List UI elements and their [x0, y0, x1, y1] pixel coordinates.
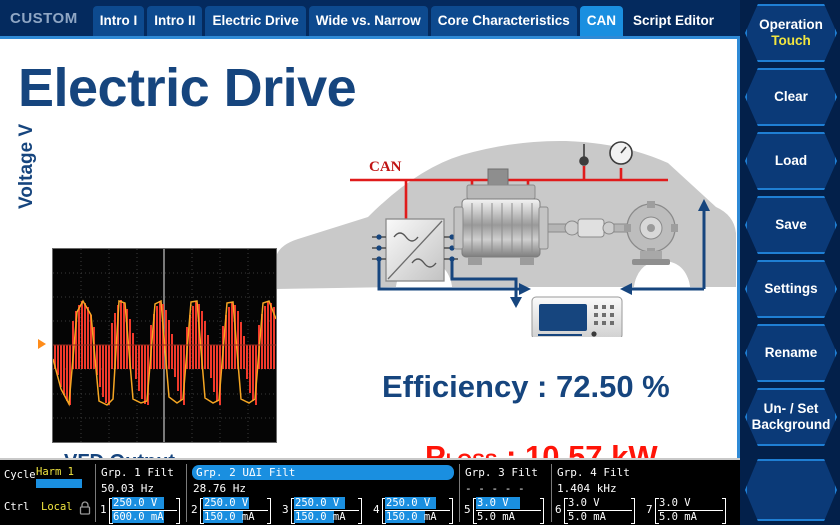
- softkey-background-label-1: Un- / Set: [764, 401, 819, 417]
- softkey-save-label: Save: [775, 217, 807, 233]
- channel-3-number: 3: [282, 503, 289, 516]
- channel-1-current: 600.0 mA: [113, 511, 164, 523]
- cycle-label: Cycle: [4, 469, 36, 481]
- ctrl-value[interactable]: Local: [41, 501, 73, 513]
- power-loss-readout: PLOSS : 10.57 kW: [425, 439, 658, 458]
- channel-4-tail: [449, 498, 453, 524]
- can-label: CAN: [369, 159, 402, 175]
- softkey-load[interactable]: Load: [745, 132, 837, 190]
- softkey-background-label-2: Background: [752, 417, 831, 433]
- tab-bar: CUSTOM Intro I Intro II Electric Drive W…: [0, 0, 740, 36]
- channel-1-voltage: 250.0 V: [113, 497, 157, 509]
- power-analyzer: [532, 297, 622, 337]
- channel-5-tail: [540, 498, 544, 524]
- efficiency-readout: Efficiency : 72.50 %: [382, 369, 670, 405]
- content-area: Electric Drive: [0, 36, 740, 458]
- channel-6-voltage: 3.0 V: [568, 497, 600, 509]
- softkey-operation[interactable]: Operation Touch: [745, 4, 837, 62]
- channel-2-number: 2: [191, 503, 198, 516]
- channel-5-number: 5: [464, 503, 471, 516]
- status-separator-4: [551, 464, 552, 522]
- status-separator-3: [459, 464, 460, 522]
- scope-y-axis-label: Voltage V: [16, 124, 38, 209]
- channel-6-tail: [631, 498, 635, 524]
- softkey-operation-value: Touch: [771, 33, 811, 49]
- softkey-save[interactable]: Save: [745, 196, 837, 254]
- channel-7-number: 7: [646, 503, 653, 516]
- tab-core-characteristics[interactable]: Core Characteristics: [431, 6, 577, 36]
- group-1-title[interactable]: Grp. 1 Filt: [101, 466, 174, 479]
- channel-4-number: 4: [373, 503, 380, 516]
- channel-1-number: 1: [100, 503, 107, 516]
- channel-3-tail: [358, 498, 362, 524]
- softkey-background[interactable]: Un- / Set Background: [745, 388, 837, 446]
- channel-4[interactable]: 4 250.0 V 150.0 mA: [373, 497, 453, 525]
- softkey-settings[interactable]: Settings: [745, 260, 837, 318]
- softkey-empty[interactable]: [745, 459, 837, 521]
- softkey-rename-label: Rename: [765, 345, 818, 361]
- channel-7-current: 5.0 mA: [659, 511, 697, 523]
- group-2-frequency: 28.76 Hz: [193, 482, 246, 495]
- trigger-marker-icon: [38, 339, 46, 349]
- group-2-title[interactable]: Grp. 2 UΔI Filt: [192, 465, 454, 480]
- group-4-frequency: 1.404 kHz: [557, 482, 617, 495]
- electric-drive-diagram: CAN: [276, 111, 738, 337]
- channel-6-current: 5.0 mA: [568, 511, 606, 523]
- softkey-clear[interactable]: Clear: [745, 68, 837, 126]
- ctrl-label: Ctrl: [4, 501, 29, 513]
- channel-3[interactable]: 3 250.0 V 150.0 mA: [282, 497, 362, 525]
- softkey-settings-label: Settings: [764, 281, 817, 297]
- channel-6[interactable]: 6 3.0 V 5.0 mA: [555, 497, 635, 525]
- group-3-title[interactable]: Grp. 3 Filt: [465, 466, 538, 479]
- tab-wide-vs-narrow[interactable]: Wide vs. Narrow: [309, 6, 428, 36]
- channel-5-current: 5.0 mA: [477, 511, 515, 523]
- status-bar: Cycle Harm 1 Ctrl Local Grp. 1 Filt 50.0…: [0, 458, 740, 525]
- cycle-bar: [36, 479, 82, 488]
- lock-icon: [79, 500, 91, 519]
- tab-electric-drive[interactable]: Electric Drive: [205, 6, 305, 36]
- status-separator-1: [95, 464, 96, 522]
- channel-4-voltage: 250.0 V: [386, 497, 430, 509]
- scope-caption: VFD Output: [64, 451, 175, 458]
- tab-script-editor[interactable]: Script Editor: [626, 6, 721, 36]
- ploss-prefix: P: [425, 439, 446, 458]
- channel-3-current: 150.0 mA: [295, 511, 346, 523]
- ploss-subscript: LOSS: [446, 451, 498, 458]
- cycle-value[interactable]: Harm 1: [36, 466, 74, 478]
- tab-intro-ii[interactable]: Intro II: [147, 6, 202, 36]
- scope-panel: [52, 248, 277, 443]
- custom-label: CUSTOM: [4, 10, 90, 36]
- softkey-operation-label: Operation: [759, 17, 823, 33]
- channel-4-current: 150.0 mA: [386, 511, 437, 523]
- channel-2-tail: [267, 498, 271, 524]
- channel-2[interactable]: 2 250.0 V 150.0 mA: [191, 497, 271, 525]
- channel-7[interactable]: 7 3.0 V 5.0 mA: [646, 497, 726, 525]
- status-separator-2: [186, 464, 187, 522]
- group-1-frequency: 50.03 Hz: [101, 482, 154, 495]
- softkey-clear-label: Clear: [774, 89, 808, 105]
- softkey-load-label: Load: [775, 153, 807, 169]
- channel-2-voltage: 250.0 V: [204, 497, 248, 509]
- channel-1-tail: [176, 498, 180, 524]
- channel-1[interactable]: 1 250.0 V 600.0 mA: [100, 497, 180, 525]
- tab-can[interactable]: CAN: [580, 6, 623, 36]
- channel-7-tail: [722, 498, 726, 524]
- group-4-title[interactable]: Grp. 4 Filt: [557, 466, 630, 479]
- channel-2-current: 150.0 mA: [204, 511, 255, 523]
- group-3-frequency: - - - - -: [465, 482, 525, 495]
- waveform-display[interactable]: [52, 248, 277, 443]
- tab-intro-i[interactable]: Intro I: [93, 6, 145, 36]
- softkey-panel: Operation Touch Clear Load Save Settings…: [740, 0, 840, 525]
- channel-5-voltage: 3.0 V: [477, 497, 509, 509]
- page-title: Electric Drive: [18, 61, 356, 115]
- channel-7-voltage: 3.0 V: [659, 497, 691, 509]
- ploss-value: : 10.57 kW: [497, 439, 657, 458]
- channel-3-voltage: 250.0 V: [295, 497, 339, 509]
- application-window: CUSTOM Intro I Intro II Electric Drive W…: [0, 0, 840, 525]
- softkey-rename[interactable]: Rename: [745, 324, 837, 382]
- channel-6-number: 6: [555, 503, 562, 516]
- channel-5[interactable]: 5 3.0 V 5.0 mA: [464, 497, 544, 525]
